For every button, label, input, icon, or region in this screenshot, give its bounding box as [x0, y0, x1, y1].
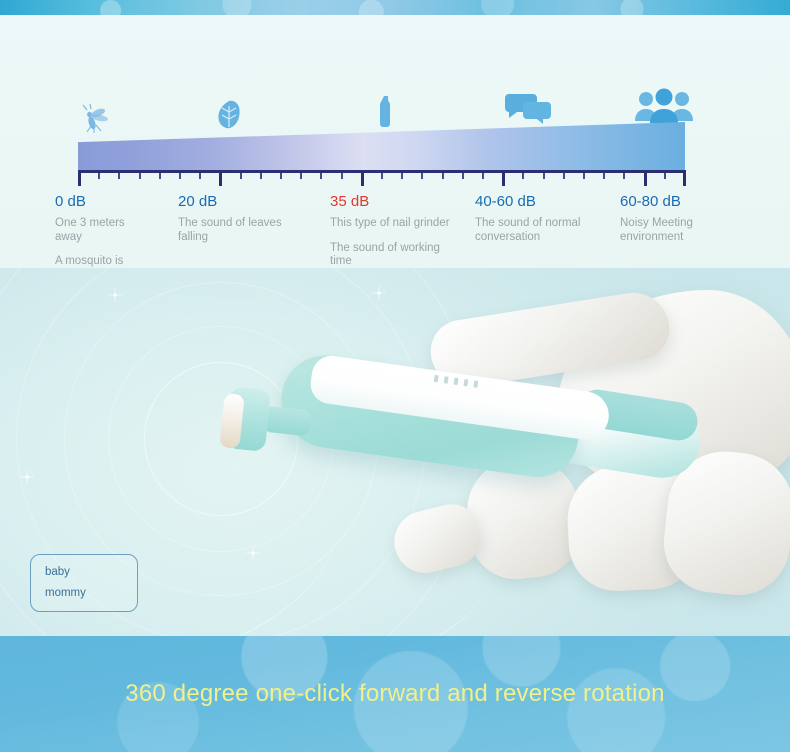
- scale-tick-minor: [563, 172, 565, 179]
- scale-label-3: 40-60 dB The sound of normal conversatio…: [475, 193, 580, 244]
- scale-tick-minor: [159, 172, 161, 179]
- db-desc-1: This type of nail grinder: [330, 217, 450, 231]
- db-value: 40-60 dB: [475, 193, 580, 211]
- bottom-banner: 360 degree one-click forward and reverse…: [0, 636, 790, 752]
- mosquito-icon: [78, 104, 112, 139]
- scale-label-4: 60-80 dB Noisy Meeting environment: [620, 193, 693, 244]
- db-desc-1: One 3 meters away: [55, 217, 125, 244]
- scale-tick-minor: [280, 172, 282, 179]
- sparkle-4: [372, 286, 386, 300]
- db-desc-1: The sound of normal conversation: [475, 217, 580, 244]
- scale-tick-minor: [320, 172, 322, 179]
- db-value: 60-80 dB: [620, 193, 693, 211]
- scale-tick-major: [78, 172, 81, 186]
- scale-tick-major: [683, 172, 686, 186]
- db-desc-1: The sound of leaves falling: [178, 217, 282, 244]
- sparkle-2: [20, 470, 34, 484]
- scale-tick-minor: [240, 172, 242, 179]
- scale-tick-minor: [341, 172, 343, 179]
- product-infographic-page: 0 dB One 3 meters away A mosquito is fly…: [0, 0, 790, 752]
- leaf-icon: [216, 100, 242, 135]
- scale-tick-minor: [139, 172, 141, 179]
- db-value: 20 dB: [178, 193, 282, 211]
- scale-label-1: 20 dB The sound of leaves falling: [178, 193, 282, 244]
- nail-grinder-icon: [379, 96, 393, 135]
- db-desc-1: Noisy Meeting environment: [620, 217, 693, 244]
- grinder-neck: [263, 406, 311, 437]
- scale-tick-major: [502, 172, 505, 186]
- top-accent-strip: [0, 0, 790, 15]
- scale-tick-major: [219, 172, 222, 186]
- scale-tick-minor: [421, 172, 423, 179]
- scale-tick-minor: [300, 172, 302, 179]
- scale-tick-minor: [118, 172, 120, 179]
- scale-tick-minor: [98, 172, 100, 179]
- scale-tick-minor: [462, 172, 464, 179]
- scale-tick-minor: [442, 172, 444, 179]
- scale-tick-minor: [623, 172, 625, 179]
- scale-tick-major: [644, 172, 647, 186]
- nail-grinder-product: [222, 360, 692, 490]
- db-value: 35 dB: [330, 193, 450, 211]
- scale-tick-minor: [179, 172, 181, 179]
- scale-tick-major: [361, 172, 364, 186]
- scale-tick-minor: [583, 172, 585, 179]
- badge-line-mommy: mommy: [45, 583, 137, 604]
- db-value: 0 dB: [55, 193, 125, 211]
- speech-bubbles-icon: [505, 90, 551, 129]
- baby-mommy-badge: baby mommy: [30, 554, 138, 612]
- scale-tick-minor: [603, 172, 605, 179]
- db-desc-2: The sound of working time: [330, 242, 450, 269]
- scale-ticks: [78, 172, 686, 186]
- scale-tick-minor: [543, 172, 545, 179]
- sparkle-1: [108, 288, 122, 302]
- decibel-scale: 0 dB One 3 meters away A mosquito is fly…: [0, 30, 790, 280]
- sound-level-section: 0 dB One 3 meters away A mosquito is fly…: [0, 15, 790, 270]
- scale-tick-minor: [664, 172, 666, 179]
- scale-tick-minor: [482, 172, 484, 179]
- sparkle-3: [246, 546, 260, 560]
- scale-tick-minor: [260, 172, 262, 179]
- banner-caption: 360 degree one-click forward and reverse…: [0, 680, 790, 708]
- scale-tick-minor: [522, 172, 524, 179]
- scale-label-2: 35 dB This type of nail grinder The soun…: [330, 193, 450, 269]
- badge-line-baby: baby: [45, 562, 137, 583]
- scale-tick-minor: [381, 172, 383, 179]
- scale-tick-minor: [401, 172, 403, 179]
- scale-tick-minor: [199, 172, 201, 179]
